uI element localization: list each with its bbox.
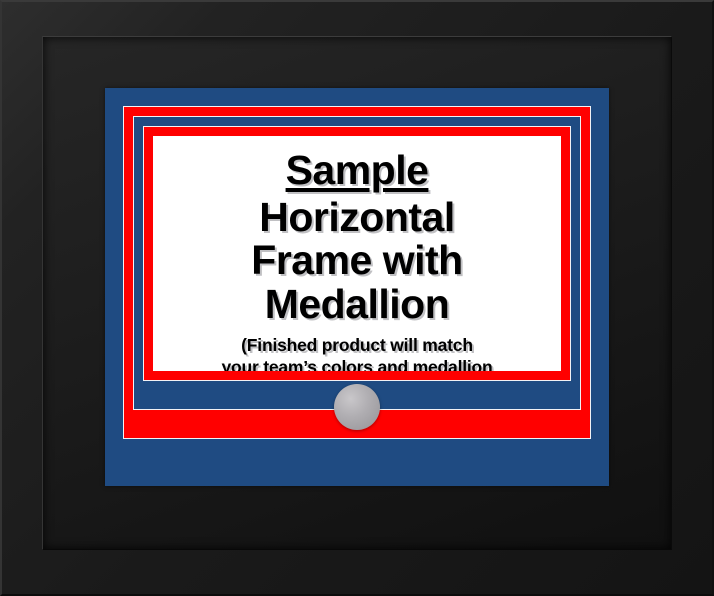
mat-layer-blue-outer: Sample Horizontal Frame with Medallion (… <box>105 88 609 486</box>
product-note: (Finished product will match your team’s… <box>221 335 492 371</box>
mat-layer-red-inner: Sample Horizontal Frame with Medallion (… <box>143 126 571 381</box>
product-note-line-1: (Finished product will match <box>221 335 492 356</box>
medallion-disc <box>334 384 380 430</box>
heading-line-3: Medallion <box>265 283 450 326</box>
print-area: Sample Horizontal Frame with Medallion (… <box>153 136 561 371</box>
mat-layer-blue-inner: Sample Horizontal Frame with Medallion (… <box>133 116 581 410</box>
heading-line-1: Horizontal <box>259 196 454 239</box>
page-title: Sample <box>286 150 429 192</box>
picture-frame: Sample Horizontal Frame with Medallion (… <box>0 0 714 596</box>
frame-inner-lip: Sample Horizontal Frame with Medallion (… <box>42 36 672 550</box>
product-note-line-2: your team’s colors and medallion <box>221 357 492 371</box>
heading-line-2: Frame with <box>251 239 462 282</box>
